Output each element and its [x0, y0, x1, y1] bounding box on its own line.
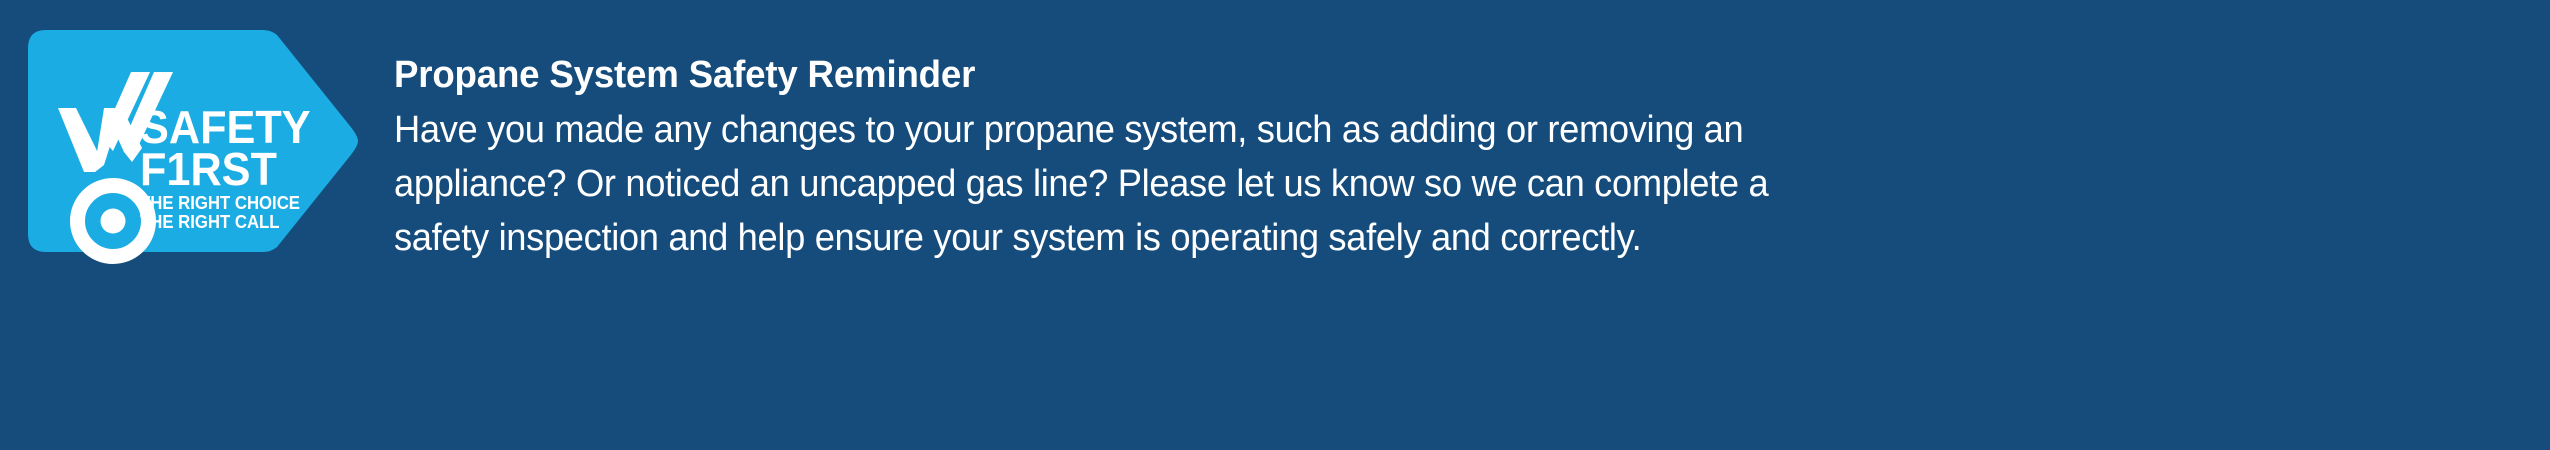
message-body-line: appliance? Or noticed an uncapped gas li… [394, 158, 2400, 212]
badge-tagline-the-right-call: THE RIGHT CALL [140, 213, 340, 231]
brand-line-first: F1RST [140, 150, 342, 190]
message-block: Propane System Safety Reminder Have you … [394, 52, 2494, 266]
safety-first-badge: SAFETY F1RST THE RIGHT CHOICE THE RIGHT … [28, 30, 358, 252]
message-title: Propane System Safety Reminder [394, 52, 2421, 98]
badge-wordmark: SAFETY F1RST THE RIGHT CHOICE THE RIGHT … [140, 108, 355, 231]
message-body-line: safety inspection and help ensure your s… [394, 212, 2400, 266]
badge-content: SAFETY F1RST THE RIGHT CHOICE THE RIGHT … [28, 30, 358, 252]
safety-reminder-banner: SAFETY F1RST THE RIGHT CHOICE THE RIGHT … [0, 0, 2550, 450]
badge-tagline-the-right-choice: THE RIGHT CHOICE [140, 194, 340, 212]
message-body-line: Have you made any changes to your propan… [394, 104, 2400, 158]
